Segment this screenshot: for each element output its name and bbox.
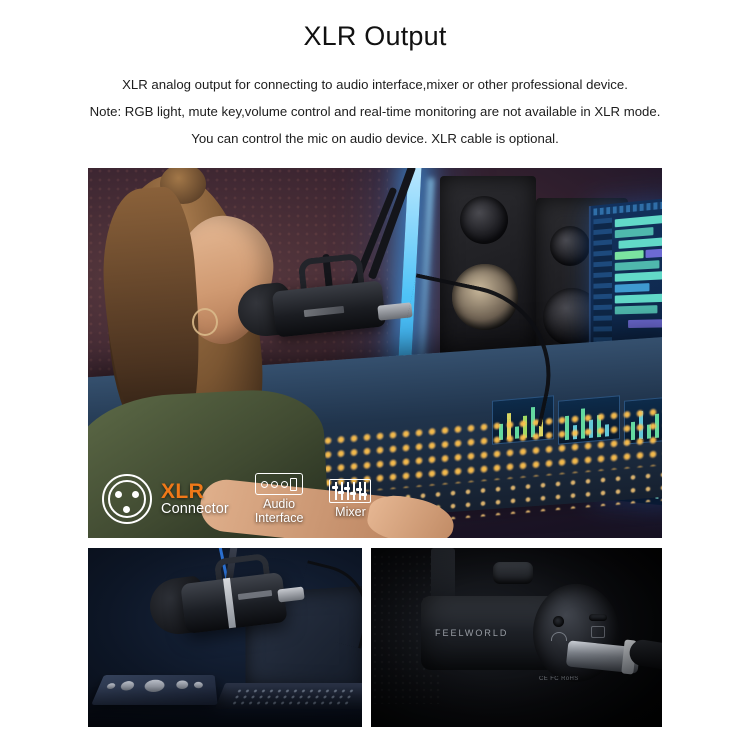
- image-gallery: XLR Connector Audio Interface: [88, 168, 662, 727]
- xlr-connector-icon: [102, 474, 152, 524]
- daw-clip: [619, 237, 662, 249]
- xlr-badge-text: XLR Connector: [161, 481, 229, 518]
- description-line-3: You can control the mic on audio device.…: [28, 128, 722, 149]
- mixer-label: Mixer: [335, 505, 366, 519]
- speaker-tweeter-left: [460, 196, 508, 244]
- daw-clip: [615, 293, 662, 303]
- audio-interface-label-line2: Interface: [255, 511, 304, 525]
- description-line-1: XLR analog output for connecting to audi…: [28, 74, 722, 95]
- audio-interface-group: Audio Interface: [255, 473, 304, 525]
- daw-clip: [615, 260, 660, 271]
- audio-interface-label: Audio Interface: [255, 497, 304, 525]
- audio-interface-label-line1: Audio: [263, 497, 295, 511]
- daw-clip: [615, 271, 662, 282]
- daw-clip: [646, 248, 662, 258]
- xlr-connector-group: XLR Connector: [102, 474, 229, 524]
- thumb-photo-mic-rear-ports-closeup: FEELWORLD CE FC RoHS: [371, 548, 662, 727]
- product-detail-page: XLR Output XLR analog output for connect…: [0, 0, 750, 750]
- speaker-tweeter-right: [550, 226, 590, 266]
- daw-clip: [615, 250, 644, 260]
- header-section: XLR Output XLR analog output for connect…: [0, 0, 750, 150]
- hero-photo-studio-podcast-scene: XLR Connector Audio Interface: [88, 168, 662, 538]
- description-line-2: Note: RGB light, mute key,volume control…: [28, 101, 722, 122]
- audio-interface-icon: [255, 473, 303, 495]
- xlr-badge-title: XLR: [161, 481, 229, 503]
- thumbnail-row: FEELWORLD CE FC RoHS: [88, 548, 662, 727]
- daw-clip: [628, 319, 662, 328]
- mixer-icon: [329, 479, 371, 503]
- daw-clip: [615, 215, 662, 228]
- mixer-group: Mixer: [329, 479, 371, 519]
- description-block: XLR analog output for connecting to audi…: [0, 74, 750, 150]
- thumb-right-vignette: [371, 548, 662, 727]
- daw-clip: [615, 305, 658, 314]
- thumb-photo-mic-with-audio-interface-and-laptop: [88, 548, 362, 727]
- thumb-left-vignette: [88, 687, 362, 727]
- xlr-badge-subtitle: Connector: [161, 502, 229, 517]
- person-hoop-earring: [192, 308, 218, 336]
- daw-clip: [615, 227, 654, 238]
- xlr-badge-overlay: XLR Connector Audio Interface: [102, 468, 648, 530]
- daw-clip: [615, 283, 650, 293]
- page-title: XLR Output: [0, 22, 750, 52]
